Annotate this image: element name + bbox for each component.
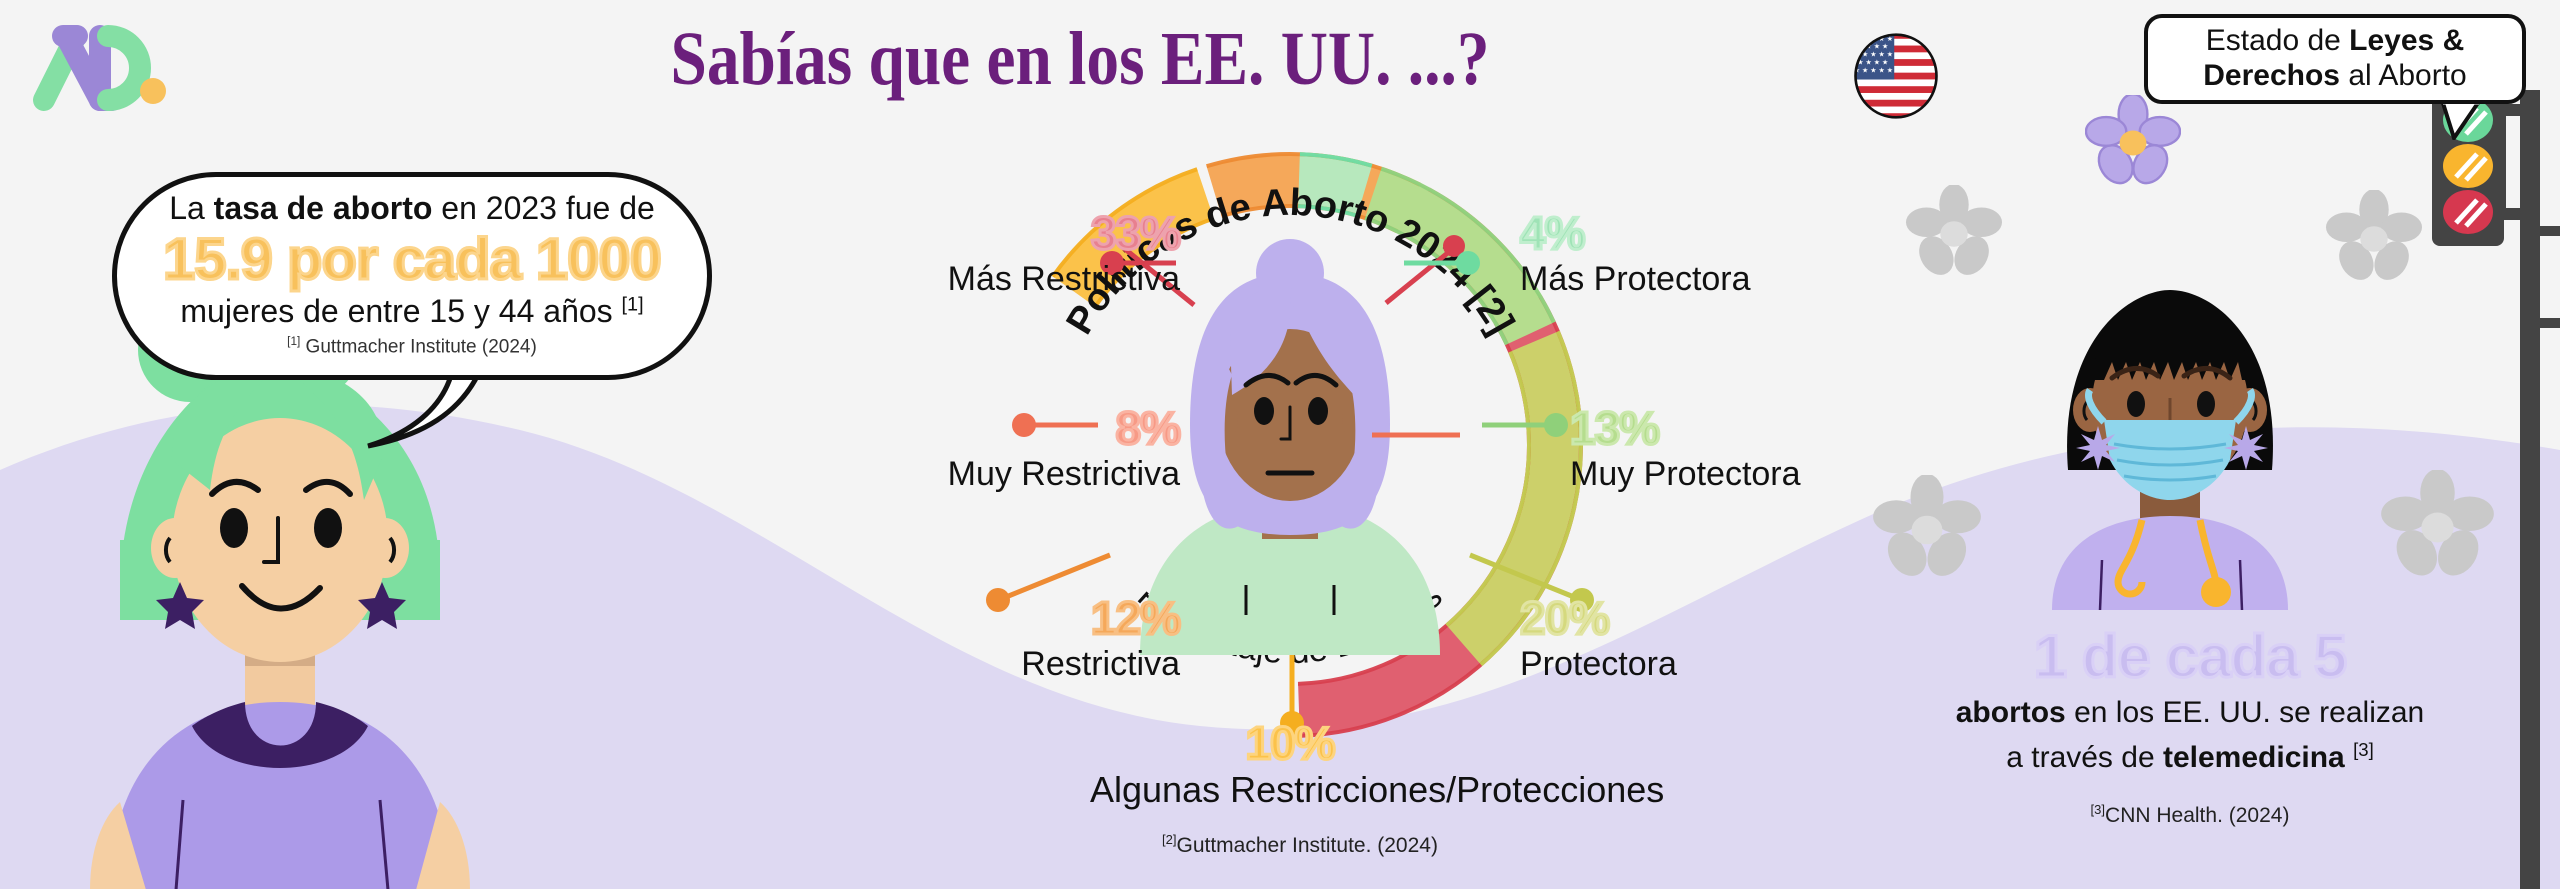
flower-icon bbox=[1872, 475, 1982, 585]
right-header-bubble: Estado de Leyes & Derechos al Aborto bbox=[2144, 14, 2526, 104]
illustration-person-right bbox=[1990, 270, 2350, 610]
us-flag-icon: ★ ★ ★ ★ ★★ ★ ★ ★ ★ ★ ★ ★ ★★ ★ ★ ★ ★ ★ ★ … bbox=[1852, 30, 1940, 122]
flower-icon bbox=[2085, 95, 2181, 191]
svg-text:★ ★ ★ ★: ★ ★ ★ ★ bbox=[1857, 59, 1888, 67]
chart-label-protectora: 20% Protectora bbox=[1520, 595, 1920, 681]
brand-logo[interactable] bbox=[30, 10, 220, 120]
right-stat-block: 1 de cada 5 abortos en los EE. UU. se re… bbox=[1870, 625, 2510, 828]
chart-label-muy-restrictiva: 8% Muy Restrictiva bbox=[820, 405, 1180, 491]
left-stat-source: [1] Guttmacher Institute (2024) bbox=[287, 335, 537, 358]
chart-label-mas-protectora: 4% Más Protectora bbox=[1520, 210, 1920, 296]
chart-label-muy-protectora: 13% Muy Protectora bbox=[1570, 405, 1970, 491]
page-title: Sabías que en los EE. UU. ...? bbox=[598, 16, 1561, 103]
left-stat-highlight: 15.9 por cada 1000 bbox=[163, 229, 661, 292]
right-header-line1: Estado de Leyes & bbox=[2206, 24, 2465, 59]
right-stat-line1: abortos en los EE. UU. se realizan bbox=[1870, 694, 2510, 732]
infographic-canvas: Sabías que en los EE. UU. ...? bbox=[0, 0, 2560, 889]
chart-source: [2]Guttmacher Institute. (2024) bbox=[1020, 832, 1580, 858]
left-stat-line1: La tasa de aborto en 2023 fue de bbox=[169, 190, 655, 227]
chart-label-mas-restrictiva: 33% Más Restrictiva bbox=[900, 210, 1180, 296]
left-stat-bubble: La tasa de aborto en 2023 fue de 15.9 po… bbox=[112, 172, 712, 380]
right-header-line2: Derechos al Aborto bbox=[2203, 59, 2467, 94]
speech-tail bbox=[2440, 100, 2486, 140]
chart-label-algunas: 10% Algunas Restricciones/Protecciones bbox=[1090, 720, 1490, 808]
svg-text:★ ★ ★ ★: ★ ★ ★ ★ bbox=[1857, 43, 1888, 51]
chart-label-restrictiva: 12% Restrictiva bbox=[790, 595, 1180, 681]
right-stat-highlight: 1 de cada 5 bbox=[1870, 625, 2510, 688]
right-stat-source: [3]CNN Health. (2024) bbox=[1870, 802, 2510, 828]
svg-text:★ ★ ★ ★ ★: ★ ★ ★ ★ ★ bbox=[1854, 66, 1893, 74]
right-stat-line2: a través de telemedicina [3] bbox=[1870, 738, 2510, 777]
logo-dot bbox=[140, 78, 166, 104]
left-stat-line3: mujeres de entre 15 y 44 años [1] bbox=[180, 293, 643, 330]
